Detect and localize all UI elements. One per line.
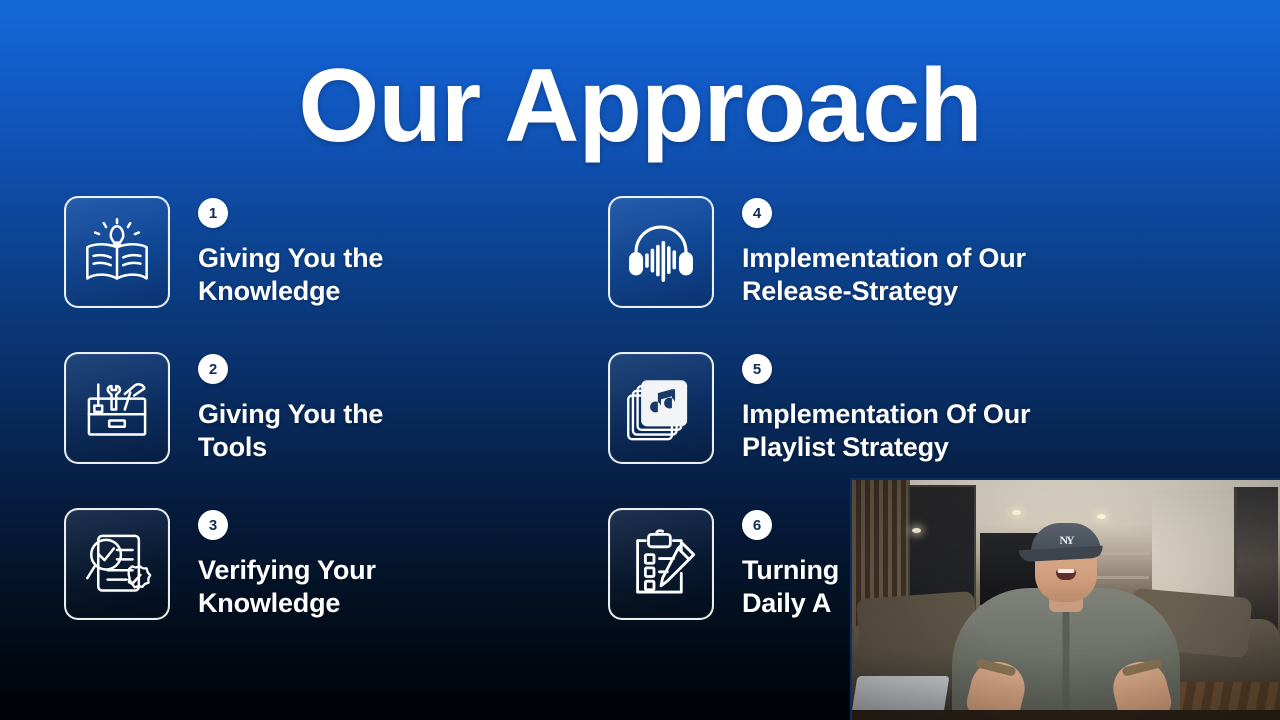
step-badge: 6 [742, 510, 772, 540]
approach-item-title: Implementation of Our Release-Strategy [742, 242, 1208, 308]
approach-item-title: Implementation Of Our Playlist Strategy [742, 398, 1208, 464]
approach-item-body: 5 Implementation Of Our Playlist Strateg… [742, 352, 1208, 464]
step-badge: 4 [742, 198, 772, 228]
ceiling-light [1097, 514, 1106, 519]
step-badge: 1 [198, 198, 228, 228]
music-cards-stack-icon [608, 352, 714, 464]
page-title: Our Approach [0, 52, 1280, 161]
presenter-teeth [1058, 569, 1075, 573]
ceiling-light [1012, 510, 1021, 515]
approach-item-2[interactable]: 2 Giving You the Tools [64, 352, 534, 508]
step-badge: 2 [198, 354, 228, 384]
headphones-waveform-icon [608, 196, 714, 308]
document-magnifier-check-icon [64, 508, 170, 620]
open-book-lightbulb-icon [64, 196, 170, 308]
approach-item-body: 3 Verifying Your Knowledge [198, 508, 534, 620]
approach-column-left: 1 Giving You the Knowledge 2 [64, 196, 534, 664]
approach-item-title: Giving You the Knowledge [198, 242, 534, 308]
table-edge [852, 710, 1280, 720]
ny-logo-icon: NY [1059, 533, 1072, 548]
approach-item-1[interactable]: 1 Giving You the Knowledge [64, 196, 534, 352]
presentation-slide: Our Approach [0, 0, 1280, 720]
step-badge: 5 [742, 354, 772, 384]
approach-item-body: 4 Implementation of Our Release-Strategy [742, 196, 1208, 308]
approach-item-title: Verifying Your Knowledge [198, 554, 534, 620]
approach-item-4[interactable]: 4 Implementation of Our Release-Strategy [608, 196, 1208, 352]
approach-item-title: Giving You the Tools [198, 398, 534, 464]
step-badge: 3 [198, 510, 228, 540]
approach-item-3[interactable]: 3 Verifying Your Knowledge [64, 508, 534, 664]
clipboard-checklist-pencil-icon [608, 508, 714, 620]
shirt-placket [1063, 600, 1070, 720]
presenter-webcam-overlay[interactable]: NY [850, 478, 1280, 720]
approach-item-body: 1 Giving You the Knowledge [198, 196, 534, 308]
approach-item-body: 2 Giving You the Tools [198, 352, 534, 464]
toolbox-icon [64, 352, 170, 464]
ceiling-light [912, 528, 921, 533]
